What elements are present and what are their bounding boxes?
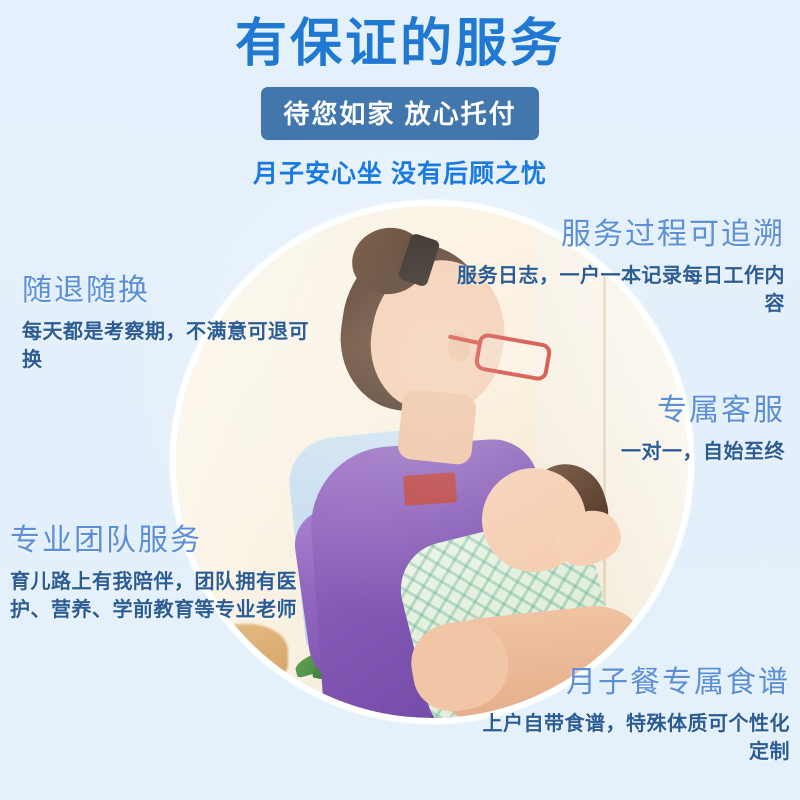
feature-title: 月子餐专属食谱 bbox=[470, 664, 790, 702]
feature-title: 随退随换 bbox=[22, 272, 322, 310]
service-guarantee-poster: 有保证的服务 待您如家 放心托付 月子安心坐 没有后顾之忧 bbox=[0, 0, 800, 800]
badge-container: 待您如家 放心托付 bbox=[0, 87, 800, 140]
feature-body: 服务日志，一户一本记录每日工作内容 bbox=[455, 262, 785, 319]
slogan-badge: 待您如家 放心托付 bbox=[261, 87, 538, 140]
feature-body: 育儿路上有我陪伴，团队拥有医护、营养、学前教育等专业老师 bbox=[10, 568, 310, 625]
feature-return-exchange: 随退随换 每天都是考察期，不满意可退可换 bbox=[22, 272, 322, 374]
poster-header: 有保证的服务 待您如家 放心托付 月子安心坐 没有后顾之忧 bbox=[0, 16, 800, 190]
tagline: 月子安心坐 没有后顾之忧 bbox=[0, 154, 800, 190]
photo-basket bbox=[200, 624, 288, 682]
feature-body: 一对一，自始至终 bbox=[485, 438, 785, 466]
feature-body: 每天都是考察期，不满意可退可换 bbox=[22, 318, 322, 375]
feature-title: 专业团队服务 bbox=[10, 522, 310, 560]
feature-title: 专属客服 bbox=[485, 392, 785, 430]
feature-postpartum-menu: 月子餐专属食谱 上户自带食谱，特殊体质可个性化定制 bbox=[470, 664, 790, 766]
feature-traceable-process: 服务过程可追溯 服务日志，一户一本记录每日工作内容 bbox=[455, 216, 785, 318]
feature-professional-team: 专业团队服务 育儿路上有我陪伴，团队拥有医护、营养、学前教育等专业老师 bbox=[10, 522, 310, 624]
page-title: 有保证的服务 bbox=[0, 16, 800, 73]
feature-body: 上户自带食谱，特殊体质可个性化定制 bbox=[470, 710, 790, 767]
feature-dedicated-support: 专属客服 一对一，自始至终 bbox=[485, 392, 785, 466]
feature-title: 服务过程可追溯 bbox=[455, 216, 785, 254]
uniform-logo bbox=[403, 472, 457, 506]
caregiver-neck bbox=[397, 388, 478, 465]
